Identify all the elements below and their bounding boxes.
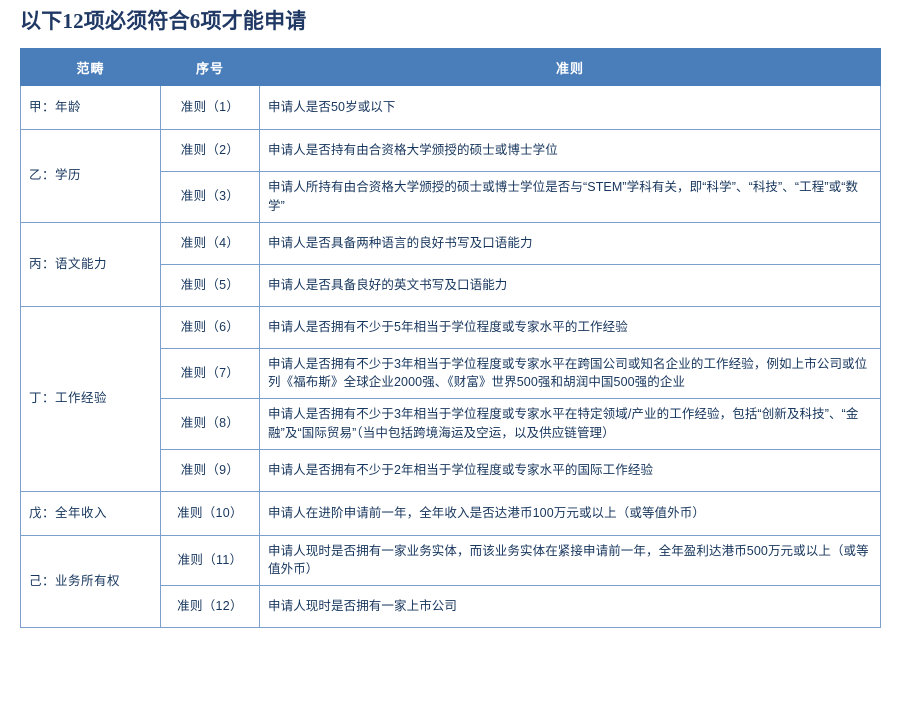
criterion-number-cell: 准则（6）	[161, 306, 260, 348]
criterion-text-cell: 申请人是否持有由合资格大学颁授的硕士或博士学位	[260, 130, 881, 172]
criterion-text-cell: 申请人是否拥有不少于2年相当于学位程度或专家水平的国际工作经验	[260, 449, 881, 491]
criterion-text-cell: 申请人在进阶申请前一年，全年收入是否达港币100万元或以上（或等值外币）	[260, 491, 881, 535]
table-row: 丁：工作经验准则（6）申请人是否拥有不少于5年相当于学位程度或专家水平的工作经验	[21, 306, 881, 348]
criteria-table-wrapper: 范畴 序号 准则 甲：年龄准则（1）申请人是否50岁或以下乙：学历准则（2）申请…	[20, 48, 880, 628]
criterion-text-cell: 申请人现时是否拥有一家业务实体，而该业务实体在紧接申请前一年，全年盈利达港币50…	[260, 535, 881, 586]
criterion-number-cell: 准则（10）	[161, 491, 260, 535]
criterion-number-cell: 准则（9）	[161, 449, 260, 491]
criterion-number-cell: 准则（2）	[161, 130, 260, 172]
column-header-category: 范畴	[21, 49, 161, 86]
category-cell: 甲：年龄	[21, 86, 161, 130]
table-row: 戊：全年收入准则（10）申请人在进阶申请前一年，全年收入是否达港币100万元或以…	[21, 491, 881, 535]
criterion-number-cell: 准则（5）	[161, 264, 260, 306]
table-row: 丙：语文能力准则（4）申请人是否具备两种语言的良好书写及口语能力	[21, 222, 881, 264]
category-cell: 乙：学历	[21, 130, 161, 223]
criterion-number-cell: 准则（12）	[161, 586, 260, 628]
category-cell: 戊：全年收入	[21, 491, 161, 535]
header-row: 范畴 序号 准则	[21, 49, 881, 86]
category-cell: 己：业务所有权	[21, 535, 161, 628]
category-cell: 丁：工作经验	[21, 306, 161, 491]
criterion-number-cell: 准则（11）	[161, 535, 260, 586]
criterion-number-cell: 准则（3）	[161, 172, 260, 223]
page-root: 以下12项必须符合6项才能申请 范畴 序号 准则 甲：年龄准则（1）申请人是否5…	[0, 0, 901, 719]
criterion-number-cell: 准则（8）	[161, 399, 260, 450]
criterion-text-cell: 申请人是否拥有不少于5年相当于学位程度或专家水平的工作经验	[260, 306, 881, 348]
criterion-text-cell: 申请人是否具备两种语言的良好书写及口语能力	[260, 222, 881, 264]
criterion-text-cell: 申请人是否50岁或以下	[260, 86, 881, 130]
table-row: 乙：学历准则（2）申请人是否持有由合资格大学颁授的硕士或博士学位	[21, 130, 881, 172]
column-header-number: 序号	[161, 49, 260, 86]
criterion-number-cell: 准则（1）	[161, 86, 260, 130]
criterion-text-cell: 申请人是否拥有不少于3年相当于学位程度或专家水平在跨国公司或知名企业的工作经验，…	[260, 348, 881, 399]
criterion-text-cell: 申请人现时是否拥有一家上市公司	[260, 586, 881, 628]
criterion-text-cell: 申请人所持有由合资格大学颁授的硕士或博士学位是否与“STEM”学科有关，即“科学…	[260, 172, 881, 223]
table-header: 范畴 序号 准则	[21, 49, 881, 86]
page-title: 以下12项必须符合6项才能申请	[20, 5, 307, 35]
criterion-text-cell: 申请人是否拥有不少于3年相当于学位程度或专家水平在特定领域/产业的工作经验，包括…	[260, 399, 881, 450]
category-cell: 丙：语文能力	[21, 222, 161, 306]
criterion-number-cell: 准则（7）	[161, 348, 260, 399]
criterion-number-cell: 准则（4）	[161, 222, 260, 264]
column-header-criterion: 准则	[260, 49, 881, 86]
table-row: 甲：年龄准则（1）申请人是否50岁或以下	[21, 86, 881, 130]
criterion-text-cell: 申请人是否具备良好的英文书写及口语能力	[260, 264, 881, 306]
table-row: 己：业务所有权准则（11）申请人现时是否拥有一家业务实体，而该业务实体在紧接申请…	[21, 535, 881, 586]
criteria-table: 范畴 序号 准则 甲：年龄准则（1）申请人是否50岁或以下乙：学历准则（2）申请…	[20, 48, 881, 628]
table-body: 甲：年龄准则（1）申请人是否50岁或以下乙：学历准则（2）申请人是否持有由合资格…	[21, 86, 881, 628]
